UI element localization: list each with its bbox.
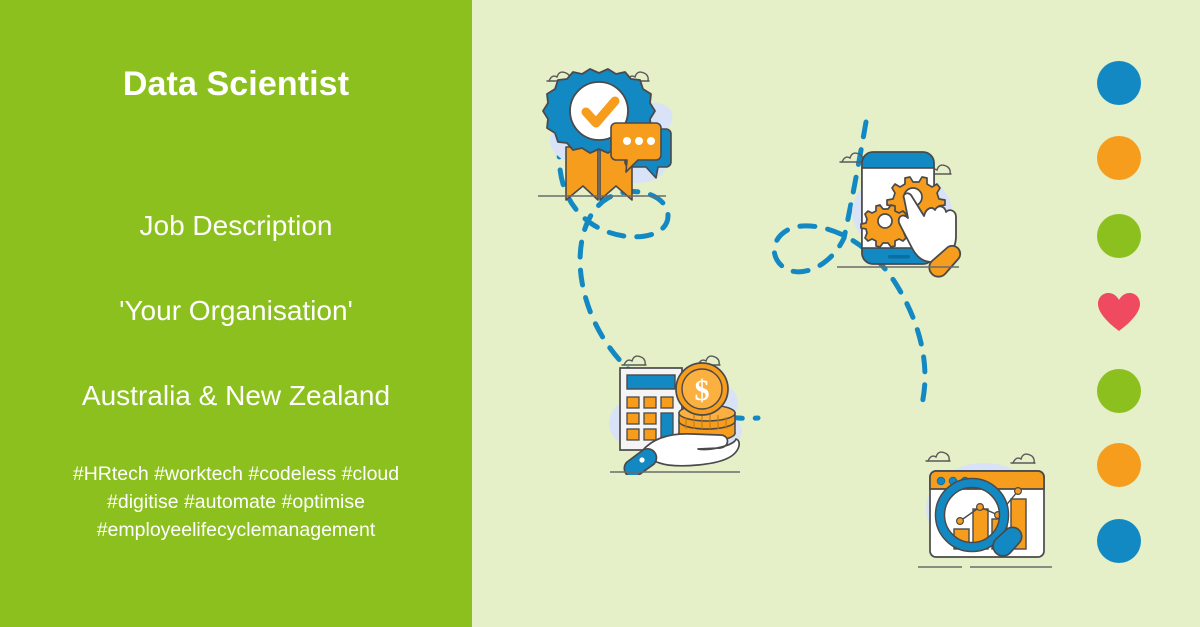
subtitle-job-description: Job Description <box>0 205 472 247</box>
decorative-dot-column <box>1095 0 1145 627</box>
left-green-panel: Data Scientist Job Description 'Your Org… <box>0 0 472 627</box>
poster-canvas: Data Scientist Job Description 'Your Org… <box>0 0 1200 627</box>
subtitle-block: Job Description 'Your Organisation' Aust… <box>0 205 472 417</box>
payroll-calculator-illustration: $ <box>602 345 752 475</box>
hashtag-line-3: #employeelifecyclemanagement <box>0 516 472 544</box>
dot-circle-green-2 <box>1097 369 1141 413</box>
hashtag-line-1: #HRtech #worktech #codeless #cloud <box>0 460 472 488</box>
dot-circle-blue-2 <box>1097 519 1141 563</box>
page-title: Data Scientist <box>0 62 472 106</box>
dot-circle-orange-2 <box>1097 443 1141 487</box>
verified-badge-illustration <box>528 55 688 205</box>
subtitle-region: Australia & New Zealand <box>0 375 472 417</box>
subtitle-organisation: 'Your Organisation' <box>0 290 472 332</box>
dot-circle-blue-1 <box>1097 61 1141 105</box>
dot-circle-green-1 <box>1097 214 1141 258</box>
svg-text:$: $ <box>695 374 710 407</box>
right-illustration-panel: $ <box>472 0 1200 627</box>
analytics-browser-illustration <box>910 443 1065 583</box>
hashtag-block: #HRtech #worktech #codeless #cloud #digi… <box>0 460 472 544</box>
hashtag-line-2: #digitise #automate #optimise <box>0 488 472 516</box>
mobile-settings-illustration <box>832 140 972 280</box>
dot-circle-orange-1 <box>1097 136 1141 180</box>
heart-icon <box>1097 291 1141 335</box>
